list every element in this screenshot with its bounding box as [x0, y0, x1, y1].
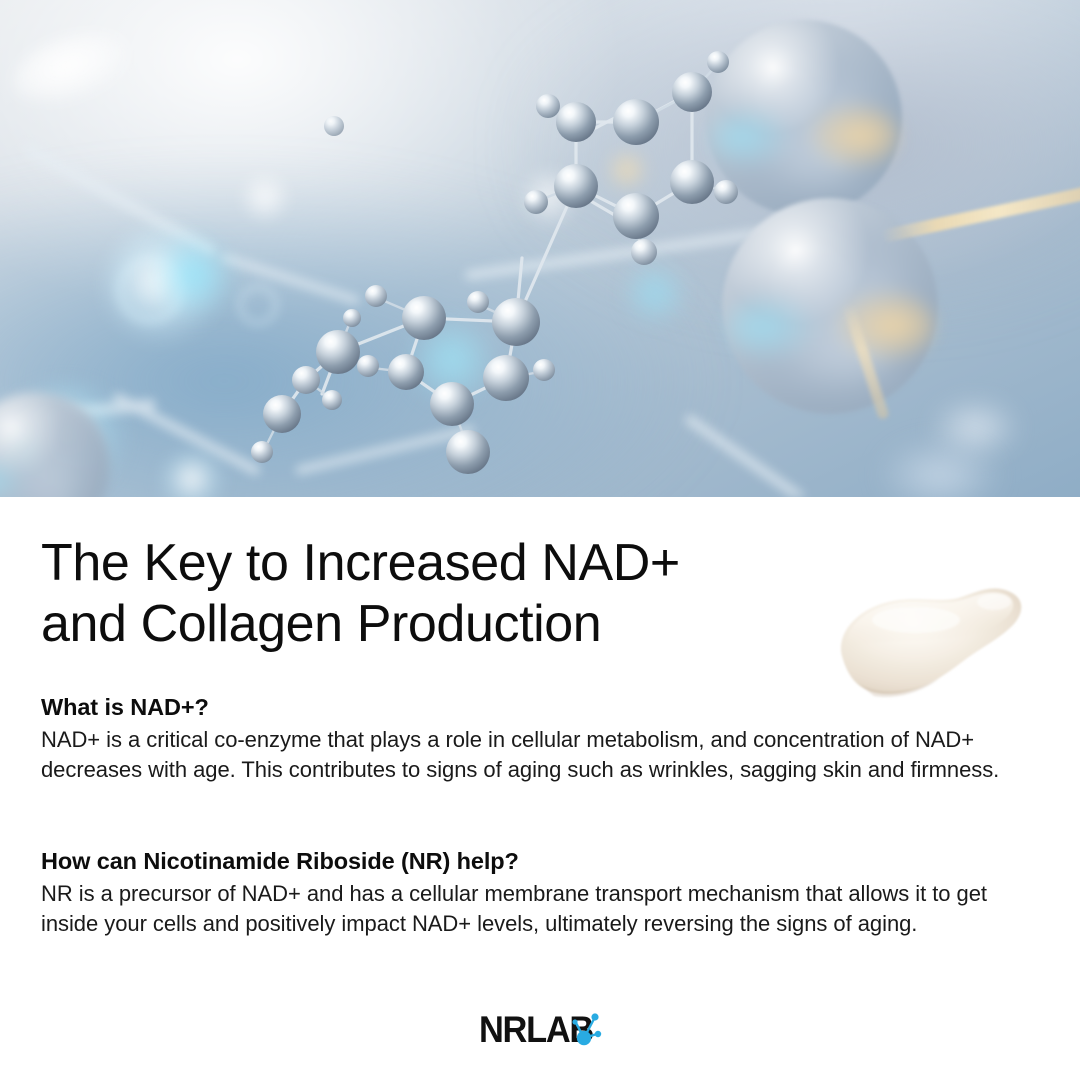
brand-logo: NRLAB — [0, 1012, 1080, 1046]
promo-graphic: The Key to Increased NAD+ and Collagen P… — [0, 0, 1080, 1080]
page-title: The Key to Increased NAD+ and Collagen P… — [41, 533, 871, 655]
section-heading: How can Nicotinamide Riboside (NR) help? — [41, 847, 1031, 876]
hero-molecule-image — [0, 0, 1080, 497]
hydrogen-spheres — [251, 51, 738, 463]
content-panel: The Key to Increased NAD+ and Collagen P… — [0, 497, 1080, 1080]
section-what-is-nad: What is NAD+? NAD+ is a critical co-enzy… — [41, 693, 1031, 785]
molecule-icon — [564, 1008, 606, 1050]
cream-swatch-image — [812, 582, 1062, 702]
molecule-structure — [0, 0, 1080, 497]
section-how-nr-helps: How can Nicotinamide Riboside (NR) help?… — [41, 847, 1031, 939]
sphere-cyan-reflection — [0, 458, 26, 497]
section-body: NAD+ is a critical co-enzyme that plays … — [41, 725, 1026, 785]
logo-lockup: NRLAB — [479, 1012, 601, 1046]
section-body: NR is a precursor of NAD+ and has a cell… — [41, 879, 1026, 939]
section-heading: What is NAD+? — [41, 693, 1031, 722]
